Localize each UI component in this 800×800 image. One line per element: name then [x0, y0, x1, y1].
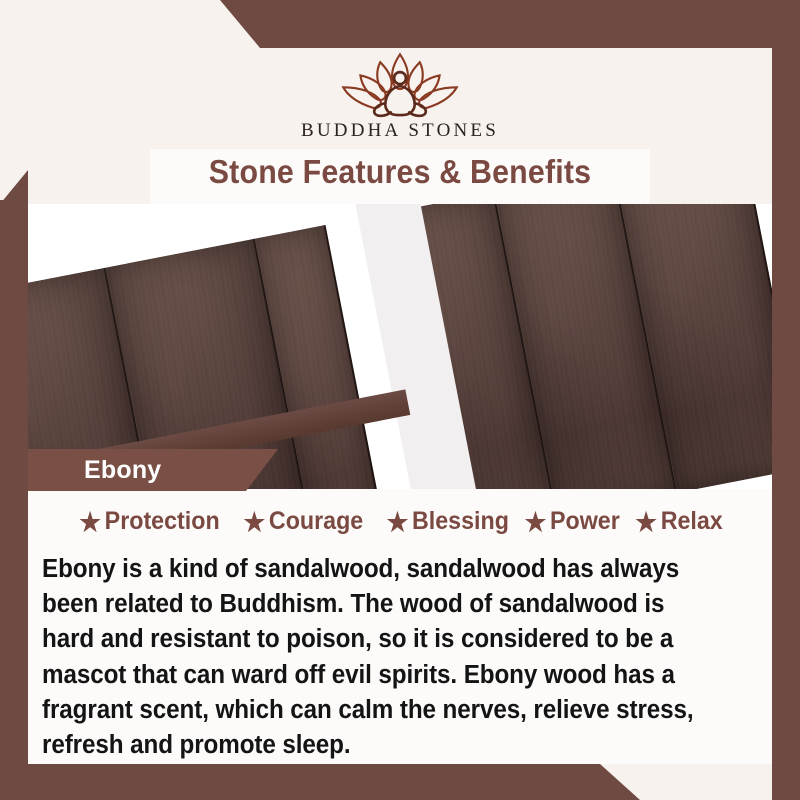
star-icon: ★	[525, 509, 547, 535]
benefit-label: Courage	[269, 507, 363, 536]
infographic-page: BUDDHA STONES Stone Features & Benefits …	[0, 0, 800, 800]
brand-header: BUDDHA STONES	[28, 52, 772, 149]
star-icon: ★	[386, 509, 408, 535]
product-name-banner: Ebony	[28, 449, 278, 491]
benefit-item: ★ Blessing	[386, 507, 508, 536]
benefit-label: Power	[550, 507, 620, 536]
star-icon: ★	[244, 509, 266, 535]
benefit-label: Protection	[105, 507, 220, 536]
brand-name: BUDDHA STONES	[301, 120, 499, 142]
benefits-row: ★ Protection ★ Courage ★ Blessing ★ Powe…	[28, 507, 772, 536]
product-name-label: Ebony	[84, 456, 161, 485]
star-icon: ★	[80, 509, 102, 535]
lotus-meditation-icon	[334, 50, 466, 120]
content-card: BUDDHA STONES Stone Features & Benefits …	[28, 52, 772, 764]
frame-right-bar	[772, 44, 800, 800]
frame-left-bar	[0, 200, 28, 800]
frame-left-bevel	[0, 170, 28, 204]
benefit-label: Relax	[660, 507, 722, 536]
title-band: Stone Features & Benefits	[28, 149, 772, 204]
benefit-label: Blessing	[412, 507, 509, 536]
benefit-item: ★ Relax	[635, 507, 722, 536]
frame-bottom-bar	[0, 764, 800, 800]
frame-top-bar	[0, 0, 800, 48]
benefit-item: ★ Courage	[244, 507, 364, 536]
description-text: Ebony is a kind of sandalwood, sandalwoo…	[42, 552, 722, 763]
page-title: Stone Features & Benefits	[58, 153, 742, 191]
star-icon: ★	[635, 509, 657, 535]
product-photo	[28, 204, 772, 489]
benefit-item: ★ Protection	[80, 507, 220, 536]
benefit-item: ★ Power	[525, 507, 620, 536]
